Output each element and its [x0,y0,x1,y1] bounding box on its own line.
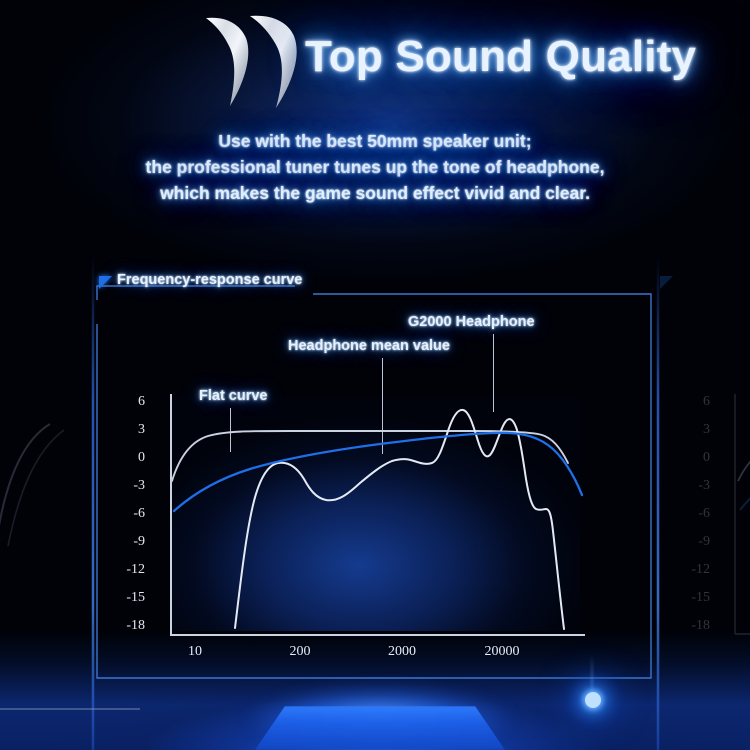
svg-text:-6: -6 [698,506,710,521]
y-tick-6: 6 [99,394,145,410]
svg-text:-15: -15 [691,590,710,605]
header: Top Sound Quality Use with the best 50mm… [0,0,750,250]
platform-shape [255,706,505,750]
svg-text:-18: -18 [691,618,710,633]
svg-text:-3: -3 [698,478,710,493]
x-axis-line [170,634,585,636]
ghost-panel-content: 6 3 0 -3 -6 -9 -12 -15 -18 10 200 [660,284,750,688]
ghost-panel-right: 6 3 0 -3 -6 -9 -12 -15 -18 10 200 [660,284,750,688]
panel-title: Frequency-response curve [117,272,302,294]
right-edge-highlight [657,255,659,750]
x-tick-10: 10 [175,644,215,660]
subtitle-line-1: Use with the best 50mm speaker unit; [60,128,690,154]
series-headphone-mean-value [235,410,564,629]
subtitle: Use with the best 50mm speaker unit; the… [60,128,690,206]
y-tick-n6: -6 [99,506,145,522]
subtitle-line-3: which makes the game sound effect vivid … [60,180,690,206]
y-tick-n15: -15 [99,590,145,606]
subtitle-line-2: the professional tuner tunes up the tone… [60,154,690,180]
x-tick-2000: 2000 [375,644,429,660]
annotation-g2000: G2000 Headphone [408,314,535,330]
svg-text:6: 6 [703,394,710,409]
page-title: Top Sound Quality [305,32,725,98]
svg-text:-9: -9 [698,534,710,549]
g2000-highlight-point [585,692,601,708]
y-tick-n12: -12 [99,562,145,578]
x-tick-20000: 20000 [470,644,534,660]
annotation-mean-value: Headphone mean value [288,338,450,354]
y-tick-n3: -3 [99,478,145,494]
curve-layer [170,397,580,634]
y-tick-0: 0 [99,450,145,466]
y-tick-n18: -18 [99,618,145,634]
blue-triangle-icon [99,276,112,289]
y-tick-3: 3 [99,422,145,438]
ghost-curve-left [0,418,104,548]
ghost-axis-left [0,708,140,710]
svg-text:-12: -12 [691,562,710,577]
page-root: Top Sound Quality Use with the best 50mm… [0,0,750,750]
x-tick-200: 200 [278,644,322,660]
double-claw-icon [196,14,308,118]
series-flat-curve [172,431,568,481]
frequency-response-panel: Frequency-response curve 6 3 0 -3 -6 -9 … [95,284,655,688]
svg-text:0: 0 [703,450,710,465]
y-tick-n9: -9 [99,534,145,550]
svg-text:3: 3 [703,422,710,437]
